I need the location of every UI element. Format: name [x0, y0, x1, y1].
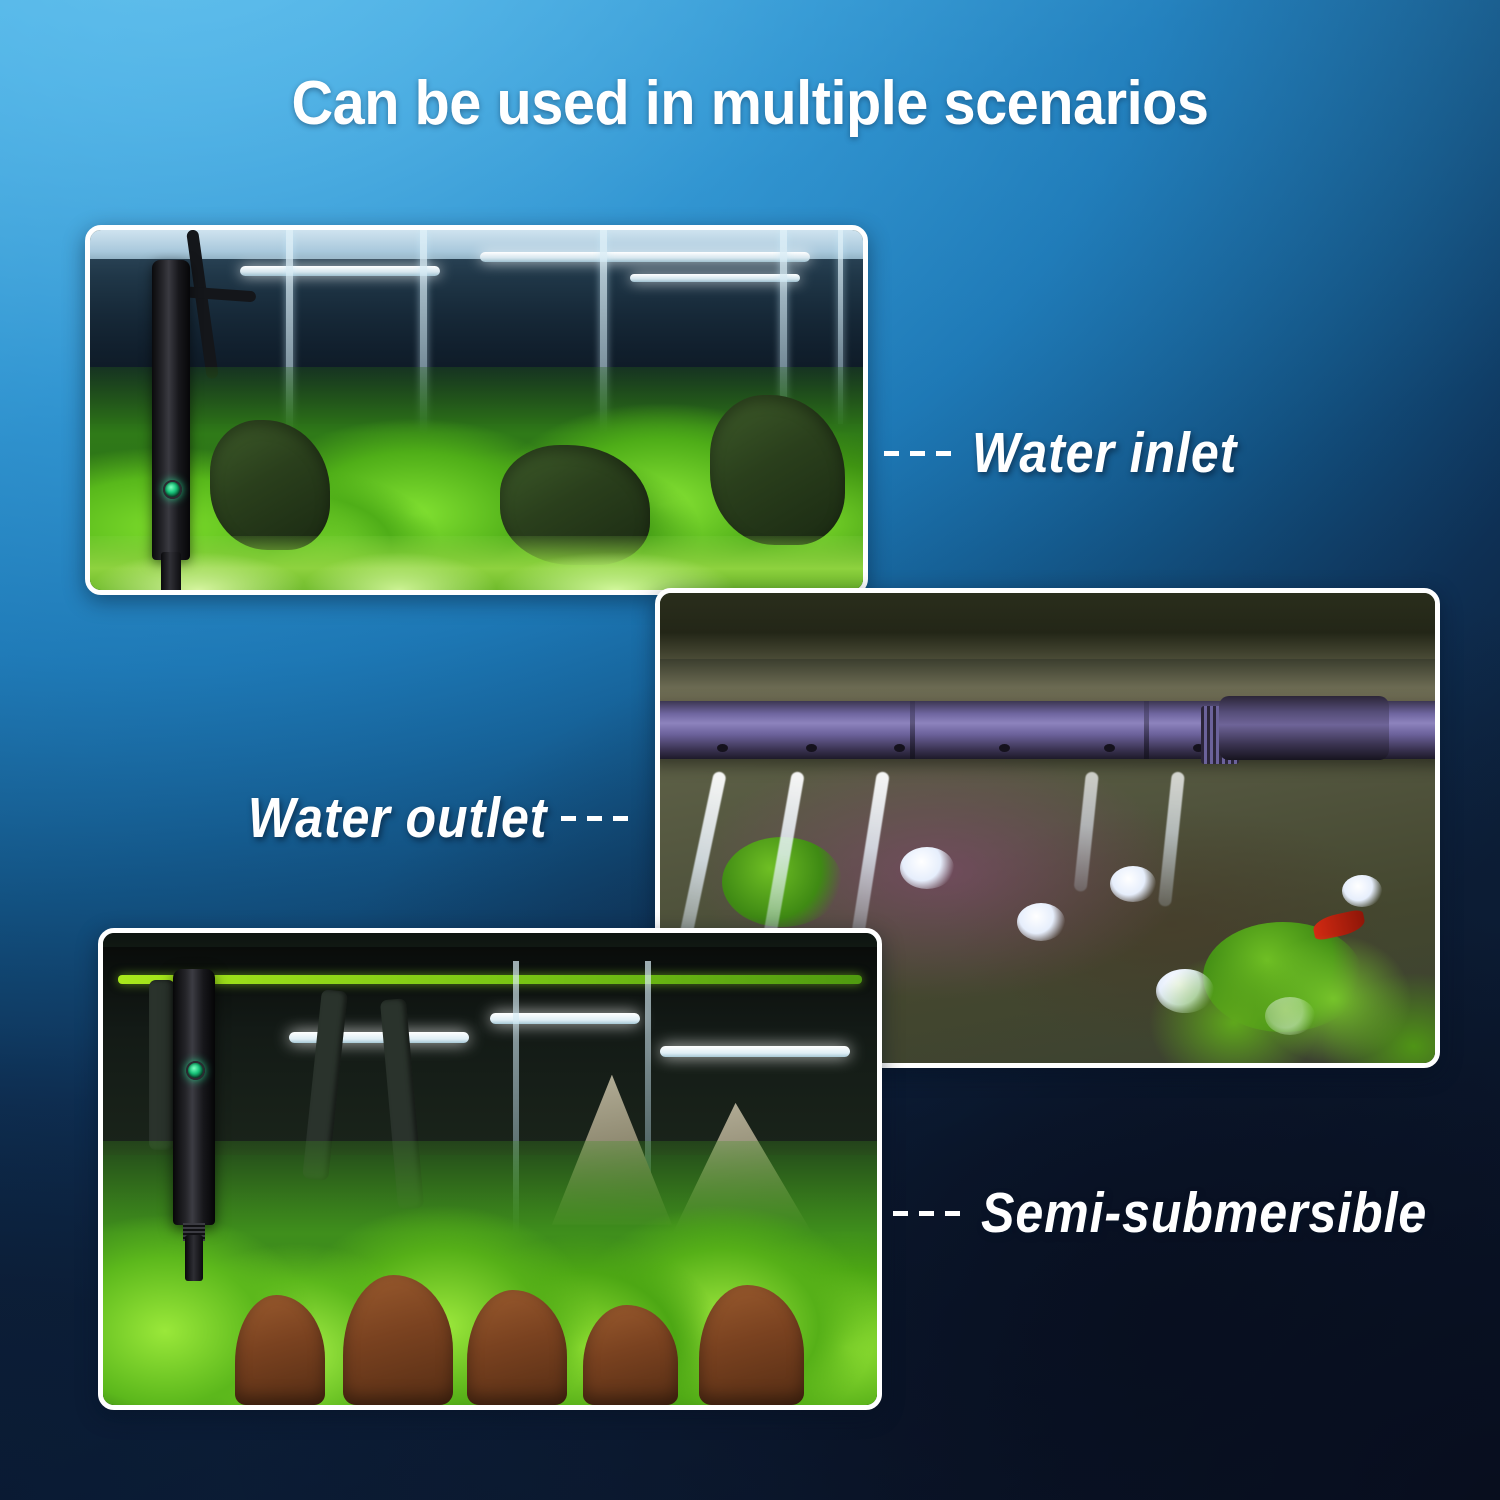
filter-pipe — [149, 980, 175, 1150]
callout-label: Water outlet — [248, 785, 547, 851]
leader-line-icon — [884, 451, 958, 456]
outlet-hole — [806, 744, 817, 752]
callout-label: Semi-submersible — [981, 1180, 1427, 1246]
carpet-plants — [90, 536, 863, 590]
panel-semi-scene — [103, 933, 877, 1405]
leader-line-icon — [561, 816, 635, 821]
water-pump-device — [173, 969, 215, 1225]
outlet-hole — [717, 744, 728, 752]
leader-line-icon — [893, 1211, 967, 1216]
pump-led-indicator — [186, 1061, 205, 1080]
callout-water-inlet: Water inlet — [884, 420, 1273, 486]
led-light-bar — [480, 252, 810, 262]
water-splash — [1017, 903, 1065, 941]
green-foliage — [1141, 884, 1436, 1063]
promo-image: Can be used in multiple scenarios — [0, 0, 1500, 1500]
pump-intake-nozzle — [185, 1235, 203, 1281]
led-light-bar — [630, 274, 800, 282]
callout-semi-submersible: Semi-submersible — [893, 1180, 1488, 1246]
led-light-bar — [660, 1046, 850, 1057]
rock-ledge — [660, 593, 1435, 659]
panel-semi — [98, 928, 882, 1410]
outlet-hole — [1104, 744, 1115, 752]
water-pump-device — [152, 260, 190, 560]
outlet-hole — [999, 744, 1010, 752]
led-light-bar — [240, 266, 440, 276]
water-splash — [900, 847, 954, 889]
outlet-hole — [894, 744, 905, 752]
callout-label: Water inlet — [972, 420, 1237, 486]
spray-bar-seam — [910, 701, 915, 759]
page-title: Can be used in multiple scenarios — [53, 68, 1448, 139]
spray-bar-end-cap — [1219, 696, 1389, 760]
pump-led-indicator — [163, 480, 182, 499]
pump-intake-nozzle — [161, 552, 181, 590]
panel-inlet-scene — [90, 230, 863, 590]
spray-bar-seam — [1144, 701, 1149, 759]
panel-inlet — [85, 225, 868, 595]
callout-water-outlet: Water outlet — [207, 785, 635, 851]
water-surface-line — [118, 975, 861, 984]
